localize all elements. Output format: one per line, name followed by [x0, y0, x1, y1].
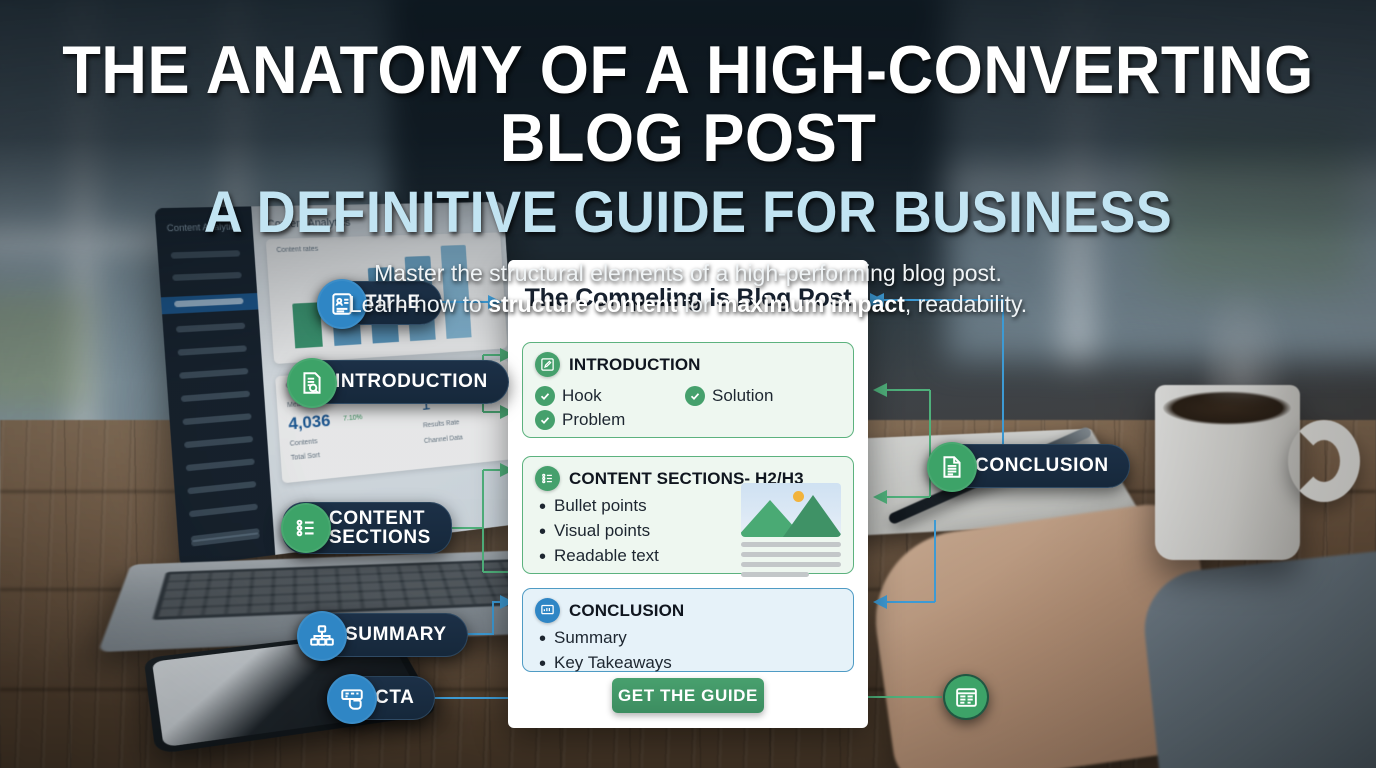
form-document-icon[interactable] [943, 674, 989, 720]
checklist-item: Hook [535, 386, 685, 406]
get-the-guide-button[interactable]: GET THE GUIDE [612, 678, 764, 713]
label-content-sections[interactable]: CONTENT SECTIONS [282, 502, 452, 554]
page-description: Master the structural elements of a high… [0, 258, 1376, 319]
desc-emphasis-1: structure content [488, 291, 677, 317]
check-circle-icon [535, 386, 555, 406]
sitemap-icon [297, 611, 347, 661]
image-placeholder-icon [741, 483, 841, 571]
label-introduction-text: INTRODUCTION [335, 372, 488, 391]
page-title: THE ANATOMY OF A HIGH-CONVERTING BLOG PO… [48, 36, 1328, 172]
label-content-sections-text: CONTENT SECTIONS [329, 509, 431, 548]
bullet-item: Key Takeaways [535, 651, 841, 676]
header: THE ANATOMY OF A HIGH-CONVERTING BLOG PO… [0, 0, 1376, 319]
description-line-2: Learn how to structure content for maxim… [0, 289, 1376, 320]
label-introduction[interactable]: INTRODUCTION [288, 360, 509, 404]
label-summary-text: SUMMARY [345, 625, 447, 644]
introduction-card: INTRODUCTION Hook Solution Problem [522, 342, 854, 438]
anatomy-panel: The Compeling is Blog Post INTRODUCTION … [508, 260, 868, 728]
conclusion-card: CONCLUSION Summary Key Takeaways [522, 588, 854, 672]
list-icon [281, 503, 331, 553]
desc-emphasis-2: maximum impact [717, 291, 905, 317]
check-circle-icon [685, 386, 705, 406]
checklist-item: Solution [685, 386, 835, 406]
desc-part-e: , readability. [905, 291, 1027, 317]
introduction-label: INTRODUCTION [569, 355, 701, 375]
checklist-label: Hook [562, 386, 602, 406]
presentation-chart-icon [535, 598, 560, 623]
bullet-item: Summary [535, 626, 841, 651]
desc-part-c: for [677, 291, 717, 317]
edit-document-icon [535, 352, 560, 377]
page-subtitle: A DEFINITIVE GUIDE FOR BUSINESS [48, 184, 1328, 242]
document-lines-icon [927, 442, 977, 492]
introduction-header: INTRODUCTION [535, 352, 841, 377]
check-circle-icon [535, 410, 555, 430]
document-search-icon [287, 358, 337, 408]
label-cta-text: CTA [375, 688, 414, 707]
label-cta[interactable]: CTA [328, 676, 435, 720]
conclusion-header: CONCLUSION [535, 598, 841, 623]
bulleted-list-icon [535, 466, 560, 491]
label-conclusion[interactable]: CONCLUSION [928, 444, 1130, 488]
click-hand-icon [327, 674, 377, 724]
introduction-checklist: Hook Solution Problem [535, 382, 841, 430]
description-line-1: Master the structural elements of a high… [0, 258, 1376, 289]
checklist-item: Problem [535, 410, 685, 430]
label-conclusion-text: CONCLUSION [975, 456, 1109, 475]
label-summary[interactable]: SUMMARY [298, 613, 468, 657]
checklist-label: Solution [712, 386, 773, 406]
desc-part-a: Learn how to [349, 291, 488, 317]
conclusion-label: CONCLUSION [569, 601, 684, 621]
conclusion-bullets: Summary Key Takeaways [535, 626, 841, 676]
content-sections-card: CONTENT SECTIONS- H2/H3 Bullet points Vi… [522, 456, 854, 574]
checklist-label: Problem [562, 410, 625, 430]
